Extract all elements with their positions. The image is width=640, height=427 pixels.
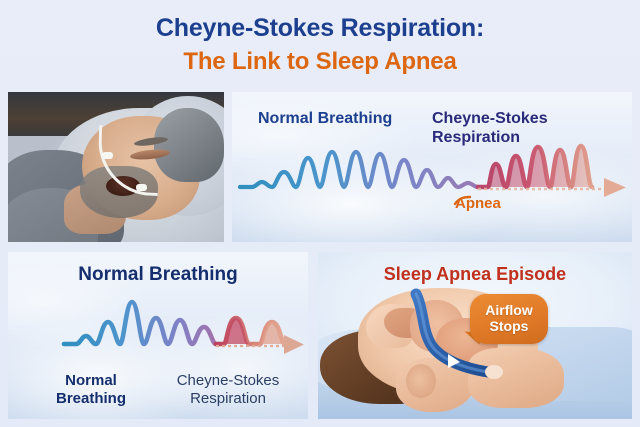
sleeping-man-photo-panel (8, 92, 224, 242)
label-cheyne-stokes: Cheyne-Stokes Respiration (158, 372, 298, 407)
label-normal-line2: Breathing (36, 390, 146, 408)
callout-text: Airflow Stops (470, 294, 548, 344)
label-cheyne-stokes: Cheyne-Stokes Respiration (432, 110, 548, 148)
airway-end-cap (485, 365, 503, 379)
page-title-line2: The Link to Sleep Apnea (0, 48, 640, 76)
waveform-panel-top: Normal Breathing Cheyne-Stokes Respirati… (232, 92, 632, 242)
normal-breathing-wave (240, 152, 478, 187)
label-cs-line2: Respiration (158, 390, 298, 408)
panel-heading-sleep-apnea-episode: Sleep Apnea Episode (318, 264, 632, 285)
page-title-line1: Cheyne-Stokes Respiration: (0, 14, 640, 43)
nasal-cannula-prong (136, 184, 147, 191)
sleep-apnea-anatomy-panel: Airflow Stops Sleep Apnea Episode (318, 252, 632, 419)
hair (154, 108, 224, 182)
label-normal-breathing: Normal Breathing (258, 110, 392, 129)
timeline-arrowhead (604, 178, 626, 197)
timeline-arrowhead (284, 335, 304, 354)
sleeping-man-photo (8, 92, 224, 242)
label-cheyne-stokes-line2: Respiration (432, 129, 548, 148)
airflow-stops-callout: Airflow Stops (470, 294, 548, 344)
label-apnea: Apnea (455, 195, 501, 213)
waveform-panel-bottom: Normal Breathing Normal Breathing Cheyne… (8, 252, 308, 419)
label-cheyne-stokes-line1: Cheyne-Stokes (432, 110, 548, 129)
normal-breathing-wave (64, 302, 216, 344)
header: Cheyne-Stokes Respiration: The Link to S… (0, 0, 640, 88)
infographic-root: Cheyne-Stokes Respiration: The Link to S… (0, 0, 640, 427)
panel-heading-normal-breathing: Normal Breathing (8, 264, 308, 286)
label-cs-line1: Cheyne-Stokes (158, 372, 298, 390)
label-normal-line1: Normal (36, 372, 146, 390)
callout-line2: Stops (490, 319, 529, 335)
callout-line1: Airflow (485, 303, 532, 319)
nasal-cannula-prong (102, 152, 113, 159)
label-normal-breathing: Normal Breathing (36, 372, 146, 407)
